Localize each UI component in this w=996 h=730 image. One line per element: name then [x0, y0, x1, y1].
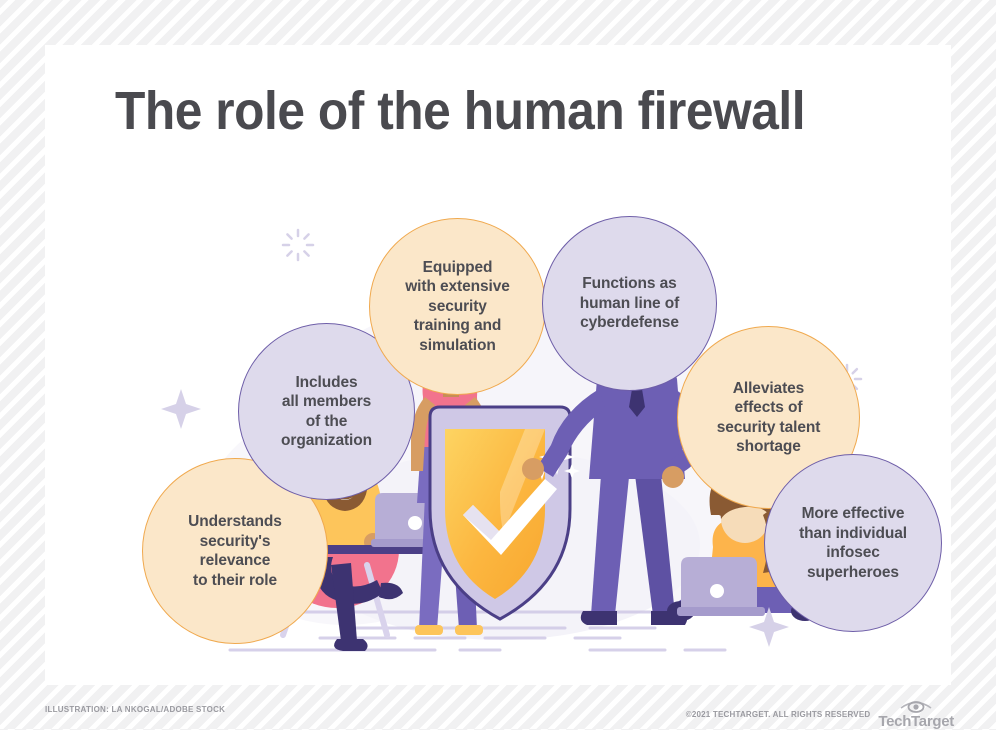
techtarget-logo: TechTarget [878, 700, 954, 729]
illustration-credit: ILLUSTRATION: LA NKOGAL/ADOBE STOCK [45, 705, 225, 714]
footer-right-group: ©2021 TECHTARGET. ALL RIGHTS RESERVED Te… [686, 700, 954, 729]
bubble-label: More effective than individual infosec s… [793, 504, 913, 582]
infographic-card: The role of the human firewall [45, 45, 951, 685]
bubble-more-effective-than-heroes: More effective than individual infosec s… [764, 454, 942, 632]
bubble-label: Alleviates effects of security talent sh… [711, 379, 827, 457]
bubble-label: Functions as human line of cyberdefense [574, 274, 685, 333]
bubble-equipped-training: Equipped with extensive security trainin… [369, 218, 546, 395]
eye-icon [899, 700, 933, 713]
bubble-label: Understands security's relevance to thei… [182, 512, 288, 590]
bubble-human-line-cyberdefense: Functions as human line of cyberdefense [542, 216, 717, 391]
techtarget-wordmark: TechTarget [878, 714, 954, 729]
copyright-notice: ©2021 TECHTARGET. ALL RIGHTS RESERVED [686, 710, 871, 719]
bubble-label: Equipped with extensive security trainin… [399, 258, 516, 356]
bubble-label: Includes all members of the organization [275, 373, 378, 451]
